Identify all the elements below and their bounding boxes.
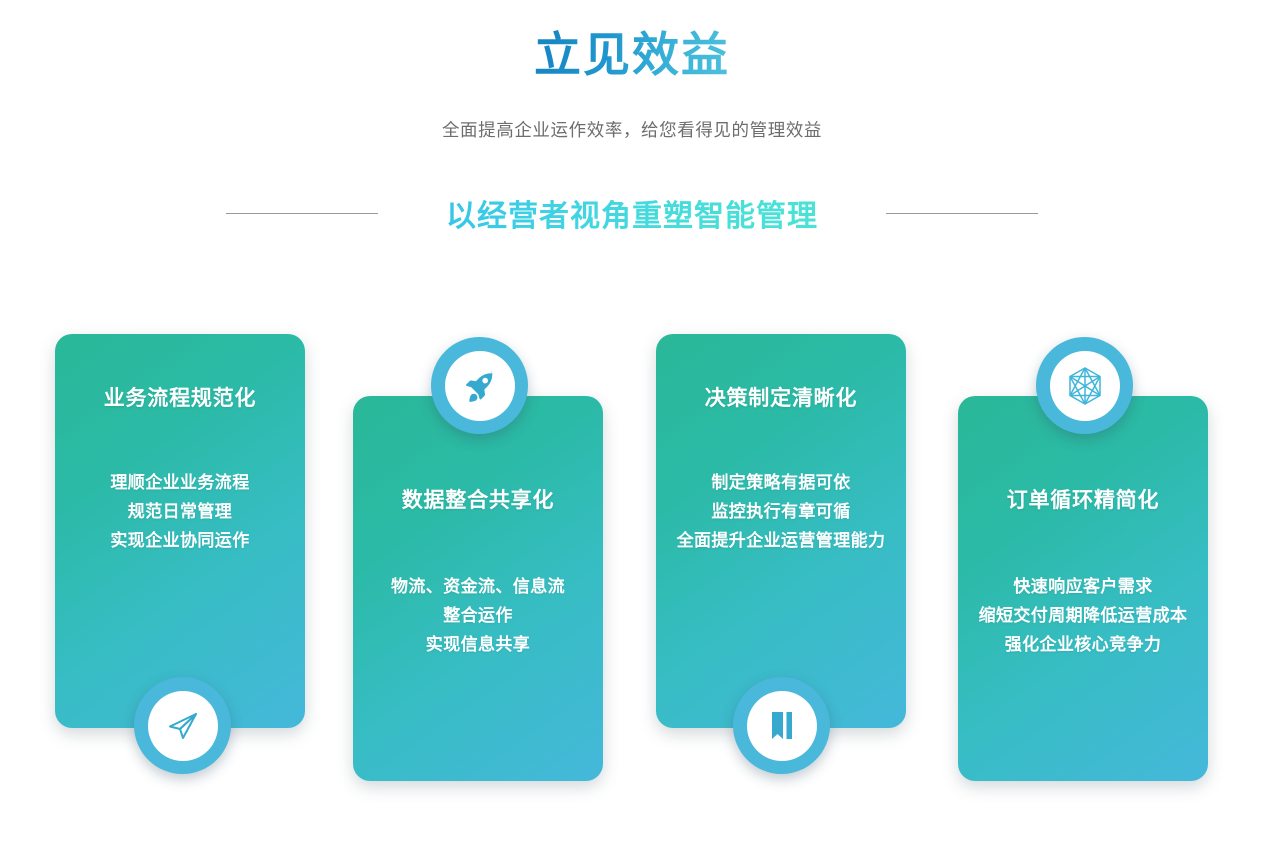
paper-plane-badge[interactable] [134, 677, 231, 774]
card-body-line: 理顺企业业务流程 [67, 468, 293, 497]
badge-inner [747, 691, 817, 761]
page-subtitle: 全面提高企业运作效率，给您看得见的管理效益 [0, 117, 1264, 143]
card-body-line: 整合运作 [365, 601, 591, 630]
page-header: 立见效益 全面提高企业运作效率，给您看得见的管理效益 以经营者视角重塑智能管理 [0, 0, 1264, 235]
rocket-badge[interactable] [431, 337, 528, 434]
card-body-line: 全面提升企业运营管理能力 [668, 526, 894, 555]
paper-plane-icon [165, 708, 201, 744]
card-body: 快速响应客户需求 缩短交付周期降低运营成本 强化企业核心竞争力 [958, 572, 1208, 660]
badge-inner [148, 691, 218, 761]
feature-card-decision-clarity[interactable]: 决策制定清晰化 制定策略有据可依 监控执行有章可循 全面提升企业运营管理能力 [656, 334, 906, 728]
feature-card-business-process[interactable]: 业务流程规范化 理顺企业业务流程 规范日常管理 实现企业协同运作 [55, 334, 305, 728]
bookmark-badge[interactable] [733, 677, 830, 774]
bookmark-icon [765, 708, 799, 744]
card-body: 物流、资金流、信息流 整合运作 实现信息共享 [353, 572, 603, 660]
card-body-line: 缩短交付周期降低运营成本 [970, 601, 1196, 630]
card-title: 业务流程规范化 [55, 382, 305, 412]
section-heading-row: 以经营者视角重塑智能管理 [0, 191, 1264, 235]
feature-card-order-cycle[interactable]: 订单循环精简化 快速响应客户需求 缩短交付周期降低运营成本 强化企业核心竞争力 [958, 396, 1208, 781]
card-body: 制定策略有据可依 监控执行有章可循 全面提升企业运营管理能力 [656, 468, 906, 556]
divider-left [226, 213, 378, 214]
card-body-line: 制定策略有据可依 [668, 468, 894, 497]
rocket-icon [462, 368, 498, 404]
card-title: 订单循环精简化 [958, 484, 1208, 514]
card-body-line: 物流、资金流、信息流 [365, 572, 591, 601]
hexagon-network-badge[interactable] [1036, 337, 1133, 434]
card-body: 理顺企业业务流程 规范日常管理 实现企业协同运作 [55, 468, 305, 556]
section-heading: 以经营者视角重塑智能管理 [446, 191, 818, 235]
card-body-line: 强化企业核心竞争力 [970, 630, 1196, 659]
card-title: 决策制定清晰化 [656, 382, 906, 412]
divider-right [886, 213, 1038, 214]
card-body-line: 规范日常管理 [67, 497, 293, 526]
hexagon-network-icon [1065, 365, 1105, 407]
feature-card-data-integration[interactable]: 数据整合共享化 物流、资金流、信息流 整合运作 实现信息共享 [353, 396, 603, 781]
page-title: 立见效益 [534, 26, 730, 85]
card-title: 数据整合共享化 [353, 484, 603, 514]
card-body-line: 监控执行有章可循 [668, 497, 894, 526]
card-body-line: 实现企业协同运作 [67, 526, 293, 555]
card-body-line: 实现信息共享 [365, 630, 591, 659]
badge-inner [445, 351, 515, 421]
card-body-line: 快速响应客户需求 [970, 572, 1196, 601]
badge-inner [1050, 351, 1120, 421]
